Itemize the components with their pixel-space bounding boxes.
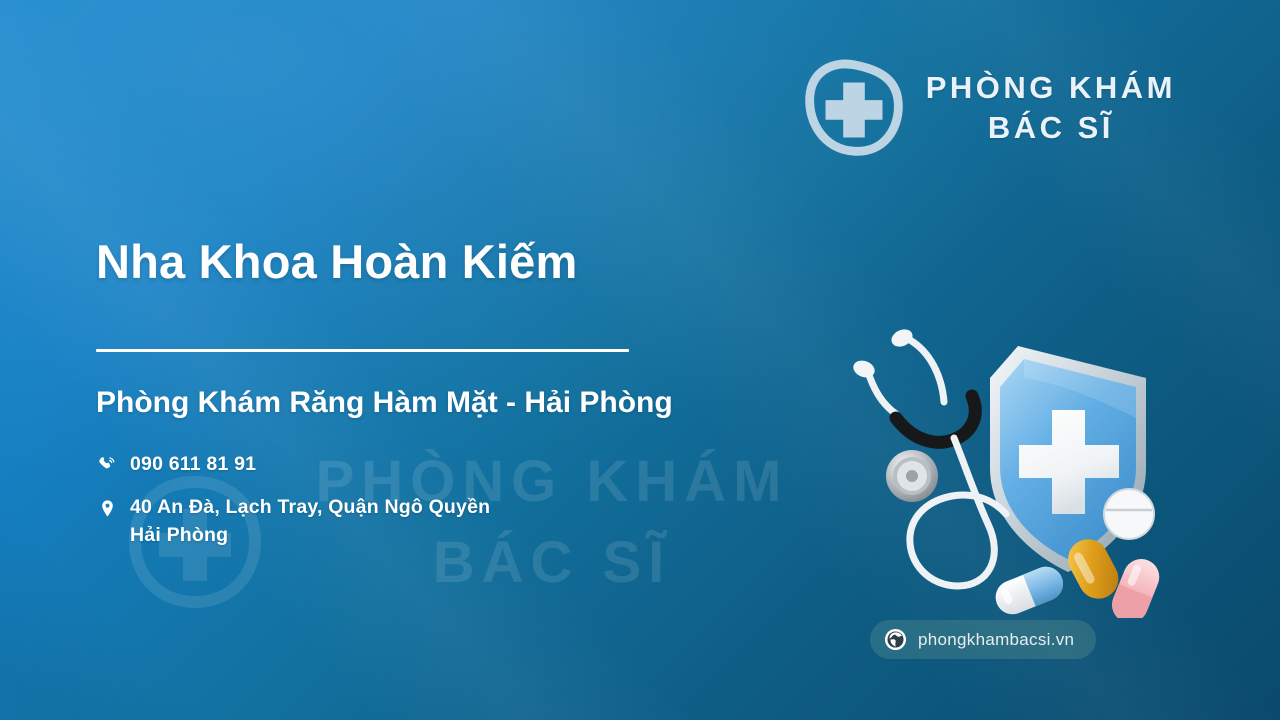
medical-illustration <box>846 318 1176 618</box>
phone-number: 090 611 81 91 <box>130 451 256 479</box>
logo-text: PHÒNG KHÁM BÁC SĨ <box>926 71 1176 145</box>
blue-white-capsule-icon <box>990 562 1068 618</box>
website-url: phongkhambacsi.vn <box>918 630 1074 650</box>
white-tablet-icon <box>1104 489 1154 539</box>
contact-address[interactable]: 40 An Đà, Lạch Tray, Quận Ngô Quyền Hải … <box>96 494 856 549</box>
logo-mark-icon <box>800 58 908 158</box>
website-badge[interactable]: phongkhambacsi.vn <box>870 620 1096 659</box>
stethoscope-icon <box>851 326 1006 586</box>
address-text: 40 An Đà, Lạch Tray, Quận Ngô Quyền Hải … <box>130 494 490 549</box>
contact-list: 090 611 81 91 40 An Đà, Lạch Tray, Quận … <box>96 451 856 550</box>
clinic-banner: PHÒNG KHÁM BÁC SĨ PHÒNG KHÁM BÁC SĨ Nha … <box>0 0 1280 720</box>
clinic-subtitle: Phòng Khám Răng Hàm Mặt - Hải Phòng <box>96 385 856 421</box>
location-pin-icon <box>96 495 118 521</box>
brand-logo: PHÒNG KHÁM BÁC SĨ <box>800 58 1176 158</box>
contact-phone[interactable]: 090 611 81 91 <box>96 451 856 479</box>
logo-text-line-2: BÁC SĨ <box>926 111 1176 145</box>
phone-icon <box>96 452 118 478</box>
clinic-name: Nha Khoa Hoàn Kiếm <box>96 236 856 289</box>
clinic-info: Nha Khoa Hoàn Kiếm Phòng Khám Răng Hàm M… <box>96 236 856 550</box>
title-divider <box>96 349 629 352</box>
logo-text-line-1: PHÒNG KHÁM <box>926 71 1176 105</box>
globe-icon <box>884 628 907 651</box>
